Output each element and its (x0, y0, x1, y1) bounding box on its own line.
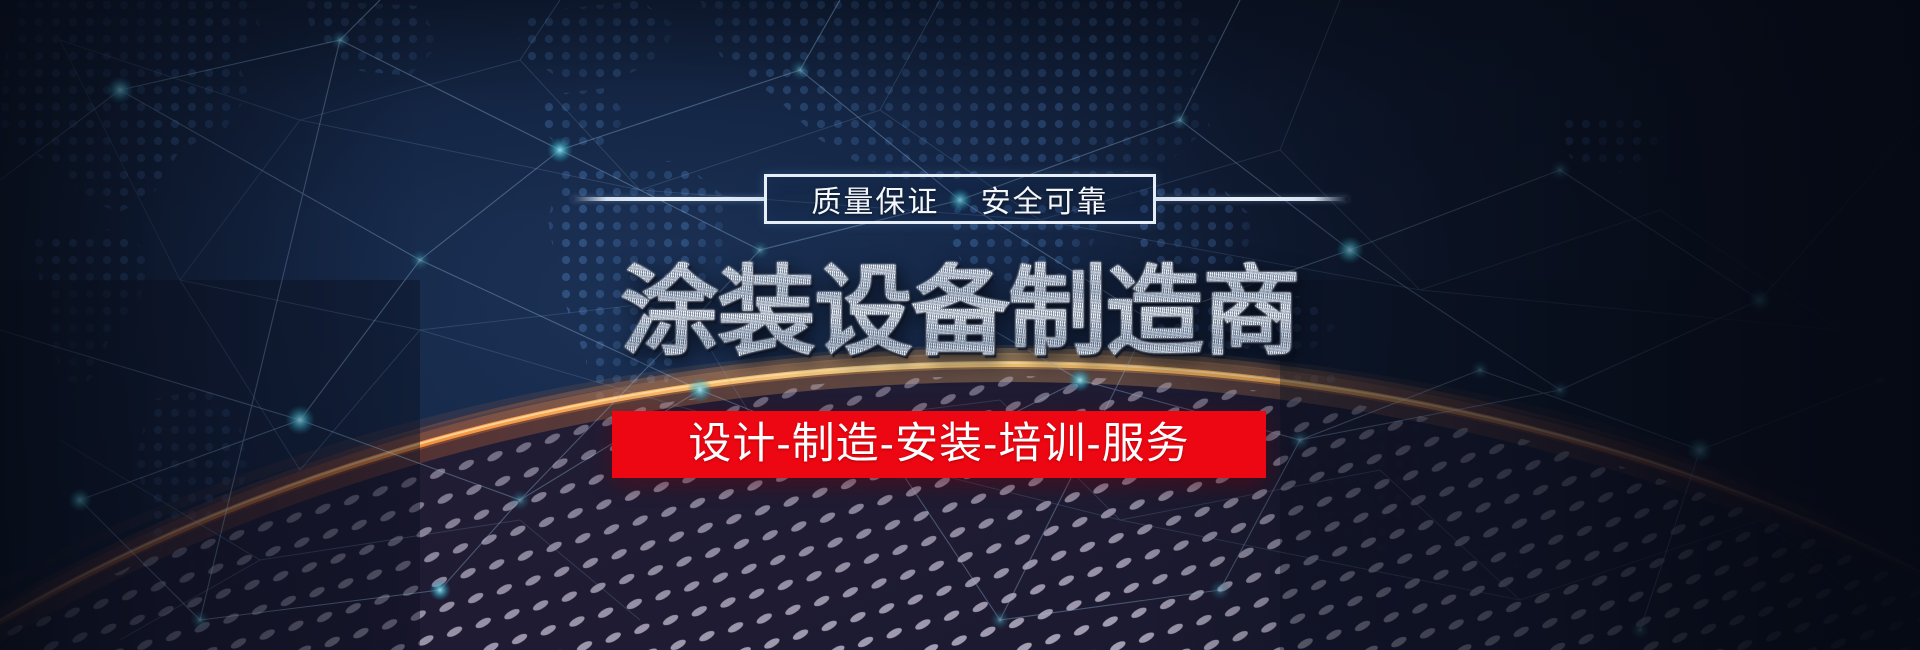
banner-content: 质量保证 安全可靠 涂装设备制造商 设计-制造-安装-培训-服务 (0, 0, 1920, 650)
page-title: 涂装设备制造商 (616, 262, 1303, 360)
banner-root: 质量保证 安全可靠 涂装设备制造商 设计-制造-安装-培训-服务 (0, 0, 1920, 650)
headline-wrap: 涂装设备制造商 (0, 262, 1920, 360)
eyebrow-row: 质量保证 安全可靠 (0, 174, 1920, 224)
eyebrow-rule-left (572, 197, 764, 201)
cta-bar-label: 设计-制造-安装-培训-服务 (688, 423, 1189, 466)
cta-bar[interactable]: 设计-制造-安装-培训-服务 (612, 411, 1266, 478)
eyebrow-text: 质量保证 安全可靠 (811, 177, 1108, 221)
eyebrow-box: 质量保证 安全可靠 (764, 174, 1156, 224)
eyebrow-rule-right (1156, 197, 1348, 201)
